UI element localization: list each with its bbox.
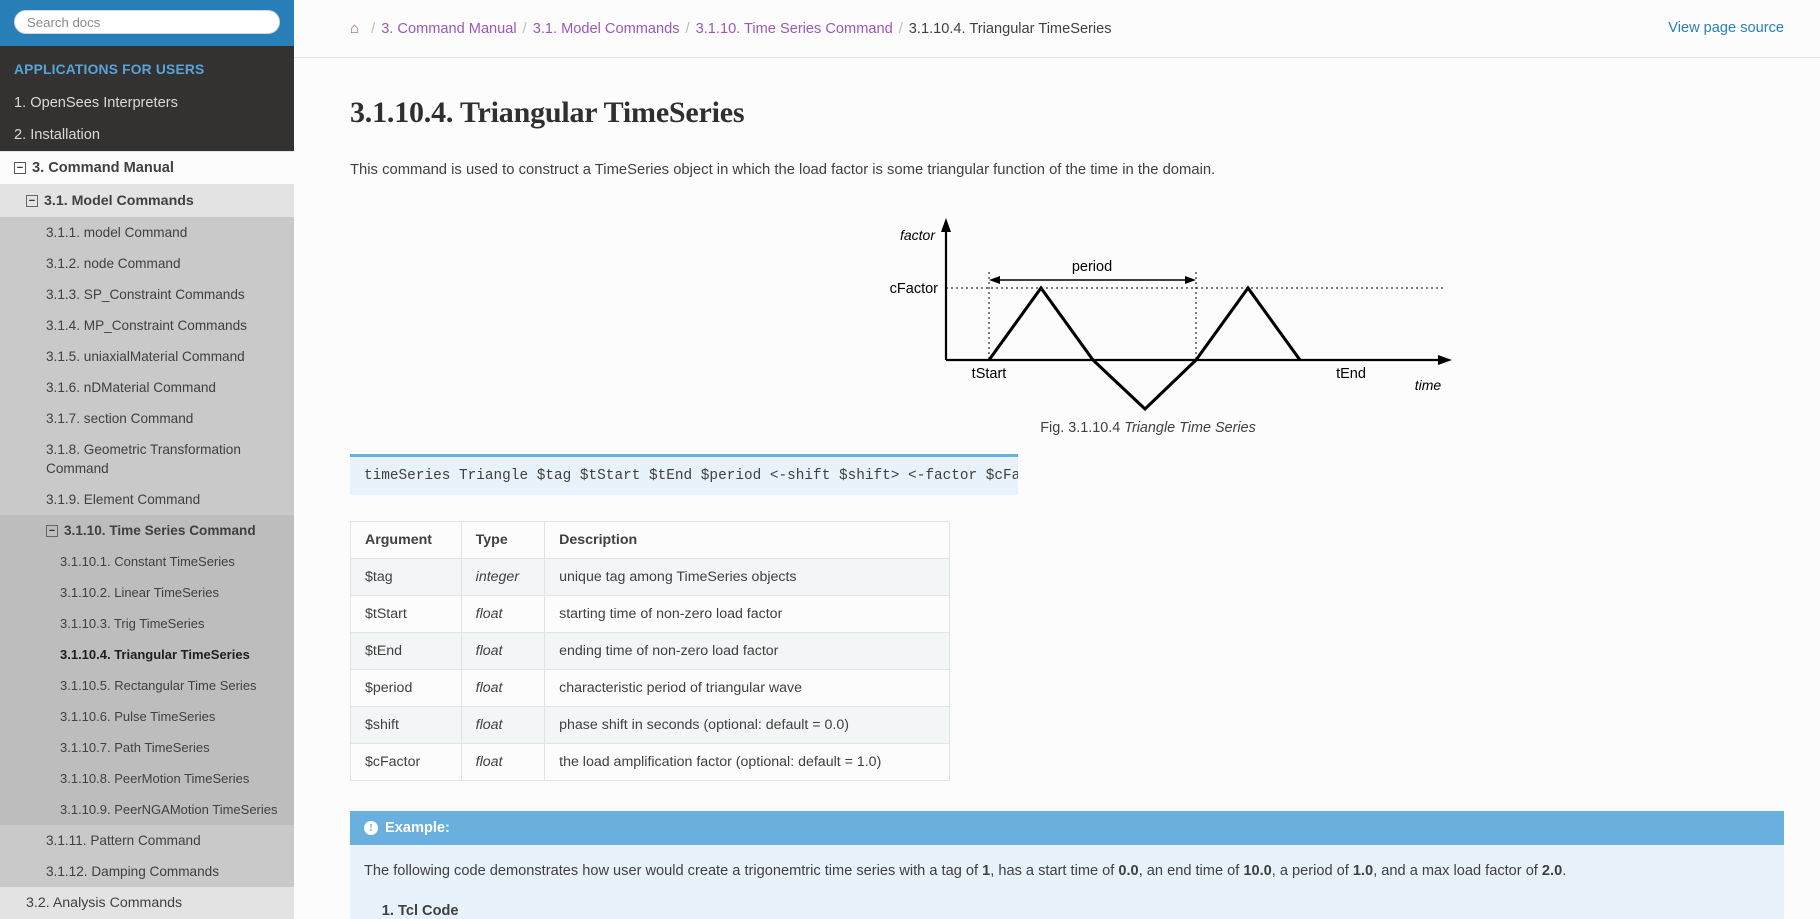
- page-title: 3.1.10.4. Triangular TimeSeries: [350, 96, 1764, 130]
- sidebar-item-3-1-1-model-command[interactable]: 3.1.1. model Command: [0, 217, 294, 248]
- sidebar-item-3-1-10-4-triangular-timeseries[interactable]: 3.1.10.4. Triangular TimeSeries: [0, 639, 294, 670]
- breadcrumb-item[interactable]: 3. Command Manual: [381, 21, 516, 37]
- sidebar-item-3-1-2-node-command[interactable]: 3.1.2. node Command: [0, 248, 294, 279]
- example-period-value: 1.0: [1353, 863, 1373, 879]
- svg-text:tStart: tStart: [972, 366, 1007, 382]
- breadcrumb-separator: /: [686, 21, 690, 37]
- sidebar: APPLICATIONS FOR USERS 1. OpenSees Inter…: [0, 0, 294, 919]
- document-body: 3.1.10.4. Triangular TimeSeries This com…: [294, 58, 1820, 919]
- column-header-description: Description: [545, 522, 950, 559]
- sidebar-item-label: 3.1.10.1. Constant TimeSeries: [60, 554, 235, 569]
- example-step-tcl-code: Tcl Code: [398, 899, 1770, 919]
- sidebar-group-level-3: 3.1.11. Pattern Command3.1.12. Damping C…: [0, 825, 294, 887]
- sidebar-item-1-opensees-interpreters[interactable]: 1. OpenSees Interpreters: [0, 87, 294, 119]
- cell-description: characteristic period of triangular wave: [545, 670, 950, 707]
- search-input[interactable]: [14, 10, 280, 34]
- sidebar-item-3-1-12-damping-commands[interactable]: 3.1.12. Damping Commands: [0, 856, 294, 887]
- sidebar-item-3-1-3-sp-constraint-commands[interactable]: 3.1.3. SP_Constraint Commands: [0, 279, 294, 310]
- breadcrumb-item: 3.1.10.4. Triangular TimeSeries: [909, 21, 1112, 37]
- example-text-2: , has a start time of: [990, 863, 1118, 879]
- sidebar-item-3-1-10-8-peermotion-timeseries[interactable]: 3.1.10.8. PeerMotion TimeSeries: [0, 763, 294, 794]
- cell-type: float: [461, 670, 544, 707]
- cell-description: starting time of non-zero load factor: [545, 596, 950, 633]
- cell-argument: $cFactor: [351, 744, 462, 781]
- cell-description: phase shift in seconds (optional: defaul…: [545, 707, 950, 744]
- example-text-3: , an end time of: [1139, 863, 1244, 879]
- table-row: $periodfloatcharacteristic period of tri…: [351, 670, 950, 707]
- sidebar-item-label: 3.1.10.9. PeerNGAMotion TimeSeries: [60, 802, 278, 817]
- sidebar-item-label: 3.1.10.7. Path TimeSeries: [60, 740, 210, 755]
- sidebar-item-label: 3.2. Analysis Commands: [26, 895, 182, 911]
- sidebar-nav-tree: 1. OpenSees Interpreters2. Installation−…: [0, 87, 294, 919]
- example-admonition: !Example: The following code demonstrate…: [350, 811, 1784, 919]
- collapse-toggle-icon[interactable]: −: [26, 195, 38, 207]
- example-end-value: 10.0: [1243, 863, 1271, 879]
- figure-caption: Fig. 3.1.10.4 Triangle Time Series: [828, 420, 1468, 436]
- sidebar-item-3-1-4-mp-constraint-commands[interactable]: 3.1.4. MP_Constraint Commands: [0, 310, 294, 341]
- breadcrumb-separator: /: [523, 21, 527, 37]
- sidebar-item-label: 3.1.9. Element Command: [46, 492, 200, 507]
- example-text-4: , a period of: [1272, 863, 1353, 879]
- table-row: $cFactorfloatthe load amplification fact…: [351, 744, 950, 781]
- example-description: The following code demonstrates how user…: [364, 859, 1770, 883]
- sidebar-item-label: 3.1.5. uniaxialMaterial Command: [46, 349, 245, 364]
- sidebar-item-label: 3.1.10.6. Pulse TimeSeries: [60, 709, 215, 724]
- example-text-6: .: [1562, 863, 1566, 879]
- sidebar-item-label: 3.1.10.4. Triangular TimeSeries: [60, 647, 250, 662]
- sidebar-item-3-1-10-3-trig-timeseries[interactable]: 3.1.10.3. Trig TimeSeries: [0, 608, 294, 639]
- sidebar-item-3-1-8-geometric-transformation-command[interactable]: 3.1.8. Geometric Transformation Command: [0, 434, 294, 484]
- svg-text:tEnd: tEnd: [1336, 366, 1366, 382]
- cell-type: float: [461, 596, 544, 633]
- sidebar-item-label: 3.1.4. MP_Constraint Commands: [46, 318, 247, 333]
- cell-argument: $tag: [351, 559, 462, 596]
- sidebar-item-2-installation[interactable]: 2. Installation: [0, 119, 294, 151]
- example-text-1: The following code demonstrates how user…: [364, 863, 982, 879]
- triangle-waveform-diagram: factor cFactor period tStart tEnd time: [828, 212, 1468, 412]
- cell-type: float: [461, 633, 544, 670]
- figure-caption-title: Triangle Time Series: [1124, 420, 1256, 436]
- sidebar-item-label: 3.1.2. node Command: [46, 256, 181, 271]
- figure-triangle-time-series: factor cFactor period tStart tEnd time F…: [828, 212, 1468, 436]
- table-row: $tagintegerunique tag among TimeSeries o…: [351, 559, 950, 596]
- sidebar-item-label: 3.1.10.8. PeerMotion TimeSeries: [60, 771, 249, 786]
- sidebar-item-label: 3.1.10.3. Trig TimeSeries: [60, 616, 205, 631]
- cell-argument: $tStart: [351, 596, 462, 633]
- example-title-text: Example:: [385, 820, 450, 836]
- table-header-row: Argument Type Description: [351, 522, 950, 559]
- cell-description: unique tag among TimeSeries objects: [545, 559, 950, 596]
- table-row: $shiftfloatphase shift in seconds (optio…: [351, 707, 950, 744]
- sidebar-item-3-1-10-7-path-timeseries[interactable]: 3.1.10.7. Path TimeSeries: [0, 732, 294, 763]
- breadcrumb-item[interactable]: 3.1. Model Commands: [533, 21, 680, 37]
- sidebar-item-3-1-10-1-constant-timeseries[interactable]: 3.1.10.1. Constant TimeSeries: [0, 546, 294, 577]
- search-area: [0, 0, 294, 46]
- sidebar-item-3-1-10-2-linear-timeseries[interactable]: 3.1.10.2. Linear TimeSeries: [0, 577, 294, 608]
- table-row: $tStartfloatstarting time of non-zero lo…: [351, 596, 950, 633]
- collapse-toggle-icon[interactable]: −: [46, 525, 58, 537]
- cell-argument: $tEnd: [351, 633, 462, 670]
- sidebar-caption: APPLICATIONS FOR USERS: [0, 46, 294, 87]
- collapse-toggle-icon[interactable]: −: [14, 162, 26, 174]
- home-icon[interactable]: ⌂: [350, 20, 359, 37]
- breadcrumb-item[interactable]: 3.1.10. Time Series Command: [696, 21, 893, 37]
- sidebar-item-3-1-7-section-command[interactable]: 3.1.7. section Command: [0, 403, 294, 434]
- sidebar-item-label: 3.1.1. model Command: [46, 225, 187, 240]
- breadcrumb: ⌂ /3. Command Manual/3.1. Model Commands…: [294, 0, 1820, 58]
- sidebar-item-label: 3.1.3. SP_Constraint Commands: [46, 287, 245, 302]
- sidebar-item-3-1-model-commands[interactable]: −3.1. Model Commands: [0, 185, 294, 217]
- main-content-area: ⌂ /3. Command Manual/3.1. Model Commands…: [294, 0, 1820, 919]
- command-signature-code-block: timeSeries Triangle $tag $tStart $tEnd $…: [350, 454, 1018, 495]
- example-text-5: , and a max load factor of: [1373, 863, 1542, 879]
- sidebar-item-label: 3.1. Model Commands: [44, 193, 194, 209]
- cell-type: integer: [461, 559, 544, 596]
- sidebar-item-label: 3.1.11. Pattern Command: [46, 833, 201, 848]
- example-factor-value: 2.0: [1542, 863, 1562, 879]
- sidebar-item-3-command-manual[interactable]: −3. Command Manual: [0, 151, 294, 185]
- example-admonition-title: !Example:: [350, 811, 1784, 845]
- sidebar-item-3-1-10-9-peerngamotion-timeseries[interactable]: 3.1.10.9. PeerNGAMotion TimeSeries: [0, 794, 294, 825]
- svg-text:time: time: [1415, 377, 1442, 393]
- cell-type: float: [461, 707, 544, 744]
- breadcrumb-separator: /: [899, 21, 903, 37]
- sidebar-item-3-1-9-element-command[interactable]: 3.1.9. Element Command: [0, 484, 294, 515]
- sidebar-item-label: 1. OpenSees Interpreters: [14, 95, 178, 111]
- sidebar-item-label: 3.1.10. Time Series Command: [64, 523, 256, 538]
- intro-paragraph: This command is used to construct a Time…: [350, 158, 1764, 182]
- sidebar-item-label: 3.1.10.2. Linear TimeSeries: [60, 585, 219, 600]
- cell-description: the load amplification factor (optional:…: [545, 744, 950, 781]
- svg-text:period: period: [1072, 259, 1112, 275]
- cell-argument: $shift: [351, 707, 462, 744]
- arguments-table-body: $tagintegerunique tag among TimeSeries o…: [351, 559, 950, 781]
- view-page-source-link[interactable]: View page source: [1668, 20, 1784, 36]
- sidebar-item-label: 3.1.6. nDMaterial Command: [46, 380, 216, 395]
- sidebar-item-label: 3.1.12. Damping Commands: [46, 864, 219, 879]
- sidebar-group-level-3: 3.1.1. model Command3.1.2. node Command3…: [0, 217, 294, 546]
- info-icon: !: [364, 821, 378, 835]
- sidebar-item-3-1-10-time-series-command[interactable]: −3.1.10. Time Series Command: [0, 515, 294, 546]
- sidebar-item-label: 3.1.10.5. Rectangular Time Series: [60, 678, 257, 693]
- svg-text:factor: factor: [900, 227, 936, 243]
- table-row: $tEndfloatending time of non-zero load f…: [351, 633, 950, 670]
- breadcrumb-list: /3. Command Manual/3.1. Model Commands/3…: [365, 21, 1111, 37]
- example-admonition-body: The following code demonstrates how user…: [350, 845, 1784, 919]
- cell-type: float: [461, 744, 544, 781]
- arguments-table: Argument Type Description $tagintegeruni…: [350, 521, 950, 781]
- sidebar-item-3-1-10-6-pulse-timeseries[interactable]: 3.1.10.6. Pulse TimeSeries: [0, 701, 294, 732]
- example-start-value: 0.0: [1118, 863, 1138, 879]
- sidebar-item-label: 3. Command Manual: [32, 160, 174, 176]
- svg-text:cFactor: cFactor: [890, 281, 939, 297]
- sidebar-item-3-2-analysis-commands[interactable]: 3.2. Analysis Commands: [0, 887, 294, 919]
- sidebar-item-3-1-10-5-rectangular-time-series[interactable]: 3.1.10.5. Rectangular Time Series: [0, 670, 294, 701]
- sidebar-item-3-1-5-uniaxialmaterial-command[interactable]: 3.1.5. uniaxialMaterial Command: [0, 341, 294, 372]
- sidebar-item-label: 3.1.8. Geometric Transformation Command: [46, 442, 241, 476]
- cell-description: ending time of non-zero load factor: [545, 633, 950, 670]
- cell-argument: $period: [351, 670, 462, 707]
- sidebar-group-level-4: 3.1.10.1. Constant TimeSeries3.1.10.2. L…: [0, 546, 294, 825]
- sidebar-item-3-1-6-ndmaterial-command[interactable]: 3.1.6. nDMaterial Command: [0, 372, 294, 403]
- sidebar-item-label: 3.1.7. section Command: [46, 411, 193, 426]
- example-steps-list: Tcl Code: [364, 899, 1770, 919]
- figure-caption-prefix: Fig. 3.1.10.4: [1040, 420, 1120, 436]
- column-header-type: Type: [461, 522, 544, 559]
- sidebar-item-3-1-11-pattern-command[interactable]: 3.1.11. Pattern Command: [0, 825, 294, 856]
- column-header-argument: Argument: [351, 522, 462, 559]
- sidebar-item-label: 2. Installation: [14, 127, 100, 143]
- breadcrumb-separator: /: [371, 21, 375, 37]
